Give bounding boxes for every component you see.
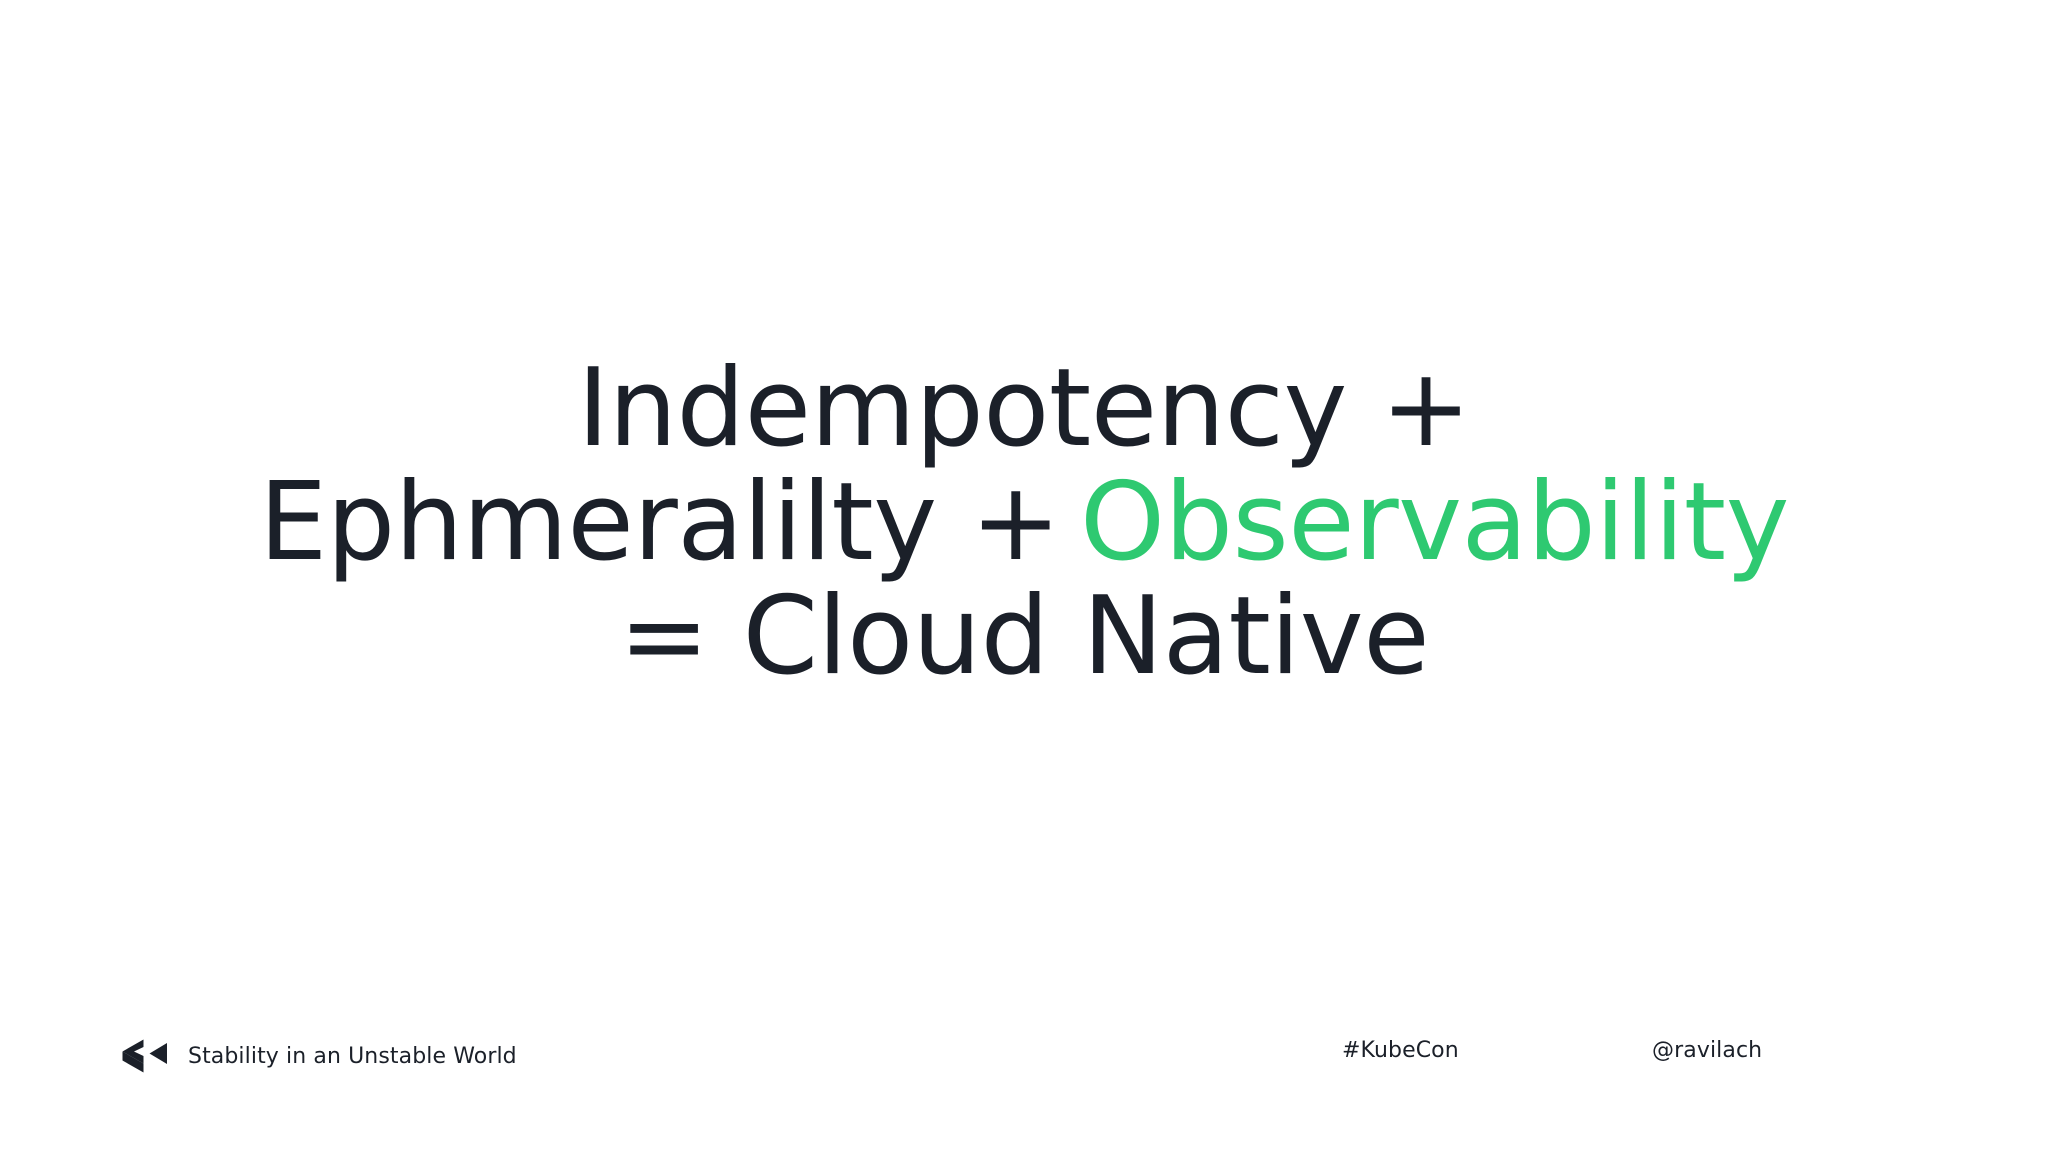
slide-footer: Stability in an Unstable World #KubeCon …: [0, 1002, 2048, 1152]
page-title: Indempotency + Ephmeralilty +Observabili…: [0, 352, 2048, 694]
headline-line-2-prefix: Ephmeralilty +: [259, 460, 1061, 585]
footer-talk-title: Stability in an Unstable World: [188, 1044, 517, 1069]
headline-line-1: Indempotency +: [0, 352, 2048, 466]
headline-line-3: = Cloud Native: [0, 580, 2048, 694]
footer-hashtag: #KubeCon: [1342, 1038, 1459, 1063]
headline-accent-observability: Observability: [1080, 460, 1789, 585]
headline-line-1-text: Indempotency +: [577, 346, 1471, 471]
double-chevron-left-icon: [112, 1038, 170, 1074]
headline-line-3-text: = Cloud Native: [619, 574, 1429, 699]
slide-canvas: Indempotency + Ephmeralilty +Observabili…: [0, 0, 2048, 1152]
footer-handle: @ravilach: [1652, 1038, 1762, 1063]
headline-line-2: Ephmeralilty +Observability: [0, 466, 2048, 580]
footer-brand: Stability in an Unstable World: [112, 1038, 517, 1074]
